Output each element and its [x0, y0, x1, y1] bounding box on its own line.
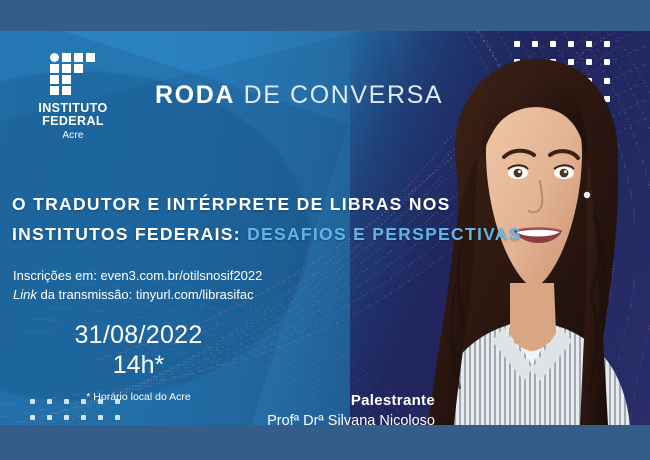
headline-line-2: INSTITUTOS FEDERAIS: DESAFIOS E PERSPECT…	[12, 219, 512, 249]
speaker-role: Palestrante	[35, 391, 435, 411]
kicker-light: DE CONVERSA	[244, 81, 444, 109]
event-date: 31/08/2022	[36, 320, 241, 350]
event-poster: INSTITUTO FEDERAL Acre RODA DE CONVERSA …	[0, 31, 650, 425]
logo-campus: Acre	[22, 130, 124, 141]
event-kicker: RODA DE CONVERSA	[155, 81, 443, 110]
logo-name-line1: INSTITUTO	[22, 102, 124, 115]
institution-logo: INSTITUTO FEDERAL Acre	[22, 53, 124, 141]
headline-line-2-main: INSTITUTOS FEDERAIS:	[12, 224, 241, 244]
stream-url[interactable]: tinyurl.com/librasifac	[136, 287, 254, 302]
logo-name-line2: FEDERAL	[22, 115, 124, 128]
registration-row: Inscrições em: even3.com.br/otilsnosif20…	[13, 266, 262, 285]
kicker-bold: RODA	[155, 81, 235, 109]
page-title: O TRADUTOR E INTÉRPRETE DE LIBRAS NOS IN…	[12, 189, 512, 249]
stream-label-rest: da transmissão:	[40, 287, 132, 302]
stream-row: Link da transmissão: tinyurl.com/librasi…	[13, 285, 262, 304]
if-pixel-logo-icon	[50, 53, 96, 95]
poster-content: INSTITUTO FEDERAL Acre RODA DE CONVERSA …	[0, 31, 650, 425]
event-datetime: 31/08/2022 14h*	[36, 320, 241, 381]
headline-line-2-accent: DESAFIOS E PERSPECTIVAS	[247, 224, 522, 244]
links-block: Inscrições em: even3.com.br/otilsnosif20…	[13, 266, 262, 304]
registration-url[interactable]: even3.com.br/otilsnosif2022	[100, 268, 262, 283]
headline-line-1: O TRADUTOR E INTÉRPRETE DE LIBRAS NOS	[12, 189, 512, 219]
registration-label: Inscrições em:	[13, 268, 97, 283]
stream-label-italic: Link	[13, 287, 37, 302]
speaker-name: Profª Drª Silvana Nicoloso	[35, 411, 435, 425]
event-time: 14h*	[36, 350, 241, 381]
poster-frame: INSTITUTO FEDERAL Acre RODA DE CONVERSA …	[0, 0, 650, 460]
speaker-block: Palestrante Profª Drª Silvana Nicoloso I…	[35, 391, 435, 425]
